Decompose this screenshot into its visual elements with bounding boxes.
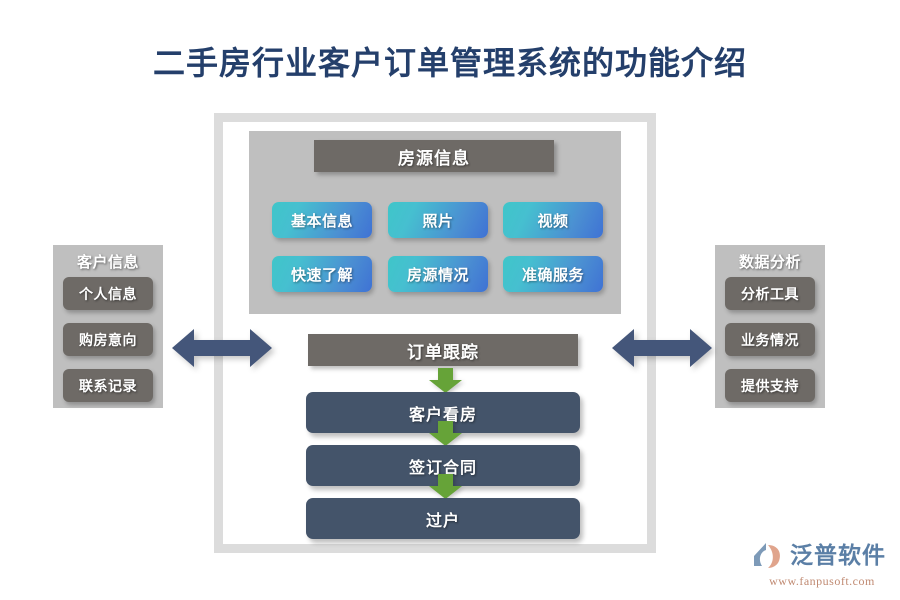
brand-logo: 泛普软件 www.fanpusoft.com: [752, 541, 892, 591]
logo-name: 泛普软件: [790, 545, 886, 568]
fanpu-logo-icon: [752, 541, 786, 571]
down-arrow-icon: [428, 421, 463, 446]
customer-contact-record-button[interactable]: 联系记录: [63, 369, 153, 402]
provide-support-button[interactable]: 提供支持: [725, 369, 815, 402]
logo-row: 泛普软件: [752, 541, 892, 571]
chip-video[interactable]: 视频: [503, 202, 603, 238]
chip-accurate-service[interactable]: 准确服务: [503, 256, 603, 292]
source-info-header: 房源信息: [314, 140, 554, 172]
down-arrow-icon: [428, 474, 463, 499]
chip-quick-understand[interactable]: 快速了解: [272, 256, 372, 292]
data-analysis-title: 数据分析: [715, 251, 825, 272]
logo-url: www.fanpusoft.com: [752, 574, 892, 589]
left-double-arrow-icon: [172, 326, 272, 370]
flow-step-transfer[interactable]: 过户: [306, 498, 580, 539]
analysis-tools-button[interactable]: 分析工具: [725, 277, 815, 310]
order-tracking-header: 订单跟踪: [308, 334, 578, 366]
down-arrow-icon: [428, 368, 463, 393]
chip-house-status[interactable]: 房源情况: [388, 256, 488, 292]
customer-purchase-intent-button[interactable]: 购房意向: [63, 323, 153, 356]
customer-info-panel: 客户信息 个人信息 购房意向 联系记录: [53, 245, 163, 408]
customer-info-title: 客户信息: [53, 251, 163, 272]
page-title: 二手房行业客户订单管理系统的功能介绍: [0, 38, 900, 84]
right-double-arrow-icon: [612, 326, 712, 370]
chip-basic-info[interactable]: 基本信息: [272, 202, 372, 238]
business-status-button[interactable]: 业务情况: [725, 323, 815, 356]
data-analysis-panel: 数据分析 分析工具 业务情况 提供支持: [715, 245, 825, 408]
customer-personal-info-button[interactable]: 个人信息: [63, 277, 153, 310]
chip-photo[interactable]: 照片: [388, 202, 488, 238]
